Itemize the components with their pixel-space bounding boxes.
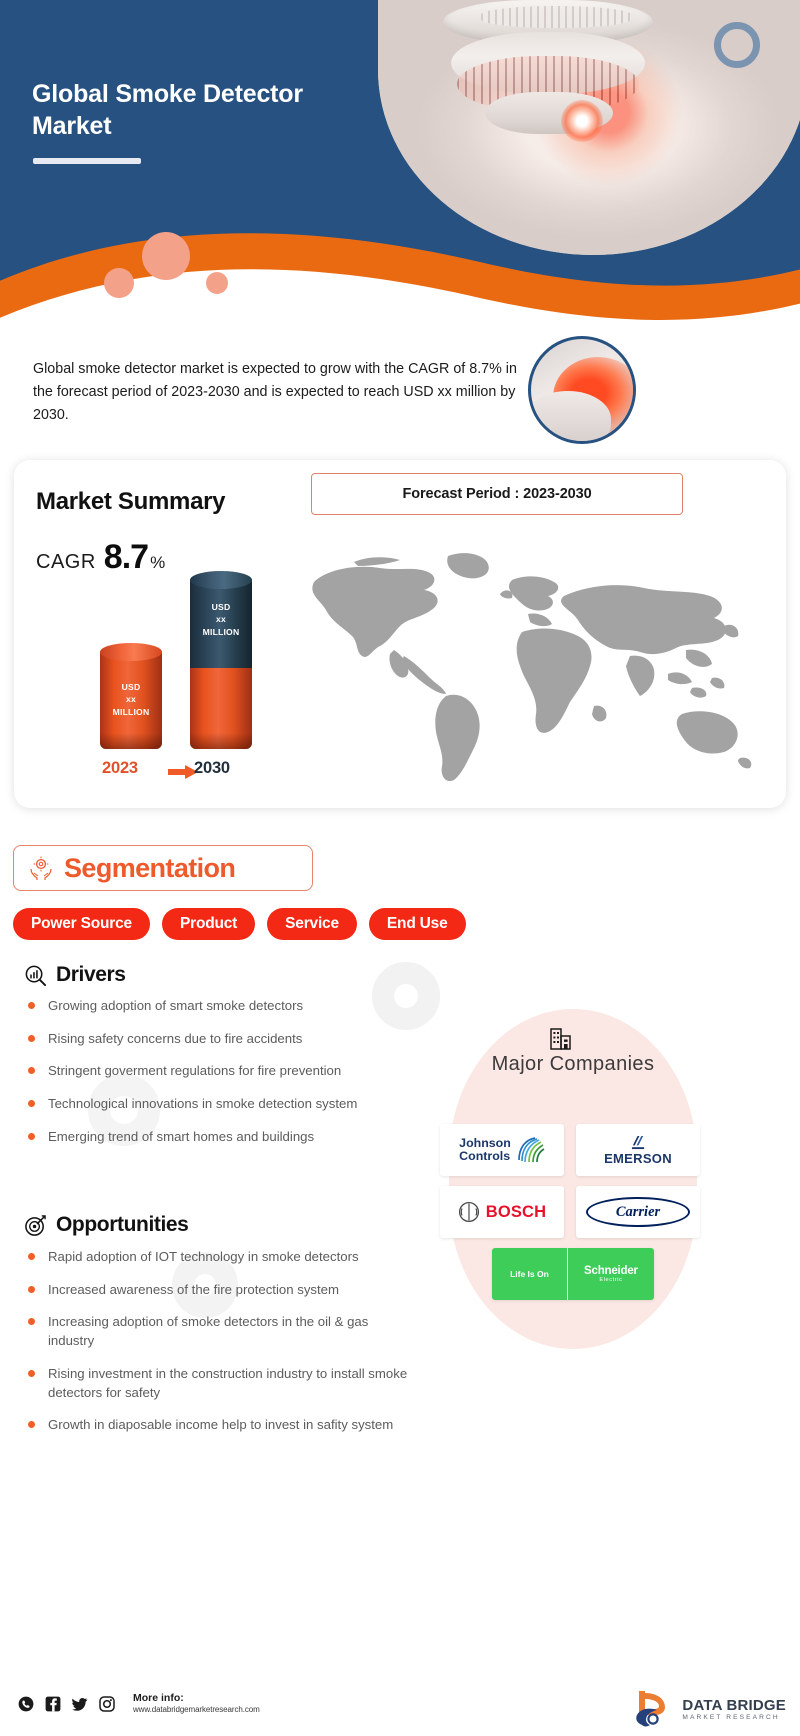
instagram-icon[interactable] xyxy=(99,1696,115,1712)
pill-product[interactable]: Product xyxy=(162,908,255,940)
bar-2030-label: USD xx MILLION xyxy=(190,601,252,638)
opportunities-list: Rapid adoption of IOT technology in smok… xyxy=(26,1248,408,1449)
bar-2023: USD xx MILLION xyxy=(100,643,162,749)
axis-label-2030: 2030 xyxy=(194,759,230,778)
schneider-electric-mark-icon: Life Is On Schneider Electric xyxy=(492,1248,654,1300)
logo-carrier: Carrier xyxy=(576,1186,700,1238)
logo-bosch-text: BOSCH xyxy=(486,1203,547,1222)
facebook-icon[interactable] xyxy=(45,1696,61,1712)
market-summary-title: Market Summary xyxy=(36,488,225,516)
cagr-value: 8.7 xyxy=(104,538,148,577)
hero-banner: Global Smoke Detector Market xyxy=(0,0,800,330)
logo-emerson: EMERSON xyxy=(576,1124,700,1176)
major-companies-logos: Johnson Controls xyxy=(440,1124,706,1300)
more-info-block: More info: www.databridgemarketresearch.… xyxy=(133,1692,260,1714)
cagr-unit: % xyxy=(150,553,165,573)
bar-2023-label-line2: xx xyxy=(100,693,162,705)
list-item: Emerging trend of smart homes and buildi… xyxy=(26,1128,408,1147)
opportunities-header: Opportunities xyxy=(24,1213,188,1237)
data-bridge-logo-icon xyxy=(633,1689,675,1729)
buildings-icon xyxy=(548,1026,574,1052)
bosch-mark-icon xyxy=(458,1201,480,1223)
forecast-period-box: Forecast Period : 2023-2030 xyxy=(311,473,683,515)
list-item: Technological innovations in smoke detec… xyxy=(26,1095,408,1114)
logo-bosch: BOSCH xyxy=(440,1186,564,1238)
list-item: Increasing adoption of smoke detectors i… xyxy=(26,1313,408,1350)
cagr-label: CAGR xyxy=(36,551,96,574)
list-item: Increased awareness of the fire protecti… xyxy=(26,1281,408,1300)
infographic-page: Global Smoke Detector Market Global smok… xyxy=(0,0,800,1736)
smoke-detector-illustration xyxy=(433,0,663,150)
list-item: Growth in diaposable income help to inve… xyxy=(26,1416,408,1435)
logo-carrier-text: Carrier xyxy=(616,1204,660,1221)
johnson-controls-mark-icon xyxy=(515,1136,545,1164)
decorative-dot xyxy=(104,268,134,298)
logo-schneider-name: Schneider xyxy=(584,1265,638,1277)
decorative-dot xyxy=(206,272,228,294)
title-underline xyxy=(33,158,141,164)
segmentation-header: Segmentation xyxy=(13,845,313,891)
drivers-title: Drivers xyxy=(56,963,126,987)
bar-2030: USD xx MILLION xyxy=(190,571,252,749)
drivers-list: Growing adoption of smart smoke detector… xyxy=(26,997,408,1161)
brand-name: DATA BRIDGE xyxy=(682,1697,786,1714)
list-item: Rapid adoption of IOT technology in smok… xyxy=(26,1248,408,1267)
logo-schneider-sub: Electric xyxy=(599,1277,622,1283)
target-icon xyxy=(24,1214,47,1237)
cagr-block: CAGR 8.7 % xyxy=(36,538,165,577)
axis-label-2023: 2023 xyxy=(102,759,138,778)
decorative-dot xyxy=(142,232,190,280)
list-item: Growing adoption of smart smoke detector… xyxy=(26,997,408,1016)
list-item: Rising safety concerns due to fire accid… xyxy=(26,1030,408,1049)
more-info-label: More info: xyxy=(133,1692,260,1705)
decorative-ring xyxy=(714,22,760,68)
forecast-period-text: Forecast Period : 2023-2030 xyxy=(402,486,591,502)
pill-end-use[interactable]: End Use xyxy=(369,908,466,940)
emerson-mark-icon xyxy=(631,1135,646,1150)
segmentation-title: Segmentation xyxy=(64,853,235,884)
bar-2023-label-line1: USD xyxy=(100,681,162,693)
market-summary-card: Market Summary CAGR 8.7 % Forecast Perio… xyxy=(14,460,786,808)
major-companies-title: Major Companies xyxy=(449,1053,697,1076)
pill-power-source[interactable]: Power Source xyxy=(13,908,150,940)
logo-johnson-controls: Johnson Controls xyxy=(440,1124,564,1176)
bar-2030-label-line1: USD xyxy=(190,601,252,613)
segmentation-pills: Power Source Product Service End Use xyxy=(13,908,466,940)
bar-2023-label: USD xx MILLION xyxy=(100,681,162,718)
bar-cap-2023 xyxy=(100,643,162,661)
list-item: Stringent goverment regulations for fire… xyxy=(26,1062,408,1081)
pill-service[interactable]: Service xyxy=(267,908,357,940)
phone-icon[interactable] xyxy=(18,1696,34,1712)
logo-emerson-text: EMERSON xyxy=(604,1151,672,1166)
twitter-icon[interactable] xyxy=(72,1696,88,1712)
brand-subtitle: MARKET RESEARCH xyxy=(682,1714,786,1721)
intro-thumbnail-photo xyxy=(528,336,636,444)
world-map xyxy=(296,538,766,788)
social-links xyxy=(18,1696,115,1712)
market-size-bar-chart: USD xx MILLION USD xx MILLION 2023 xyxy=(84,585,304,785)
logo-schneider-electric: Life Is On Schneider Electric xyxy=(492,1248,654,1300)
more-info-url[interactable]: www.databridgemarketresearch.com xyxy=(133,1705,260,1714)
brand-logo: DATA BRIDGE MARKET RESEARCH xyxy=(633,1689,786,1729)
page-title: Global Smoke Detector Market xyxy=(32,78,382,142)
bar-2023-label-line3: MILLION xyxy=(100,706,162,718)
bar-cap-2030 xyxy=(190,571,252,589)
opportunities-title: Opportunities xyxy=(56,1213,188,1237)
logo-schneider-tagline: Life Is On xyxy=(492,1248,567,1300)
drivers-header: Drivers xyxy=(24,963,126,987)
list-item: Rising investment in the construction in… xyxy=(26,1365,408,1402)
logo-johnson-controls-line2: Controls xyxy=(459,1150,511,1163)
chart-magnifier-icon xyxy=(24,964,47,987)
bar-2030-label-line2: xx xyxy=(190,613,252,625)
carrier-oval-mark-icon: Carrier xyxy=(586,1197,690,1227)
hands-holding-gear-icon xyxy=(28,855,54,881)
bar-2030-label-line3: MILLION xyxy=(190,626,252,638)
intro-paragraph: Global smoke detector market is expected… xyxy=(33,358,523,427)
chart-axis-labels: 2023 2030 xyxy=(84,757,304,785)
